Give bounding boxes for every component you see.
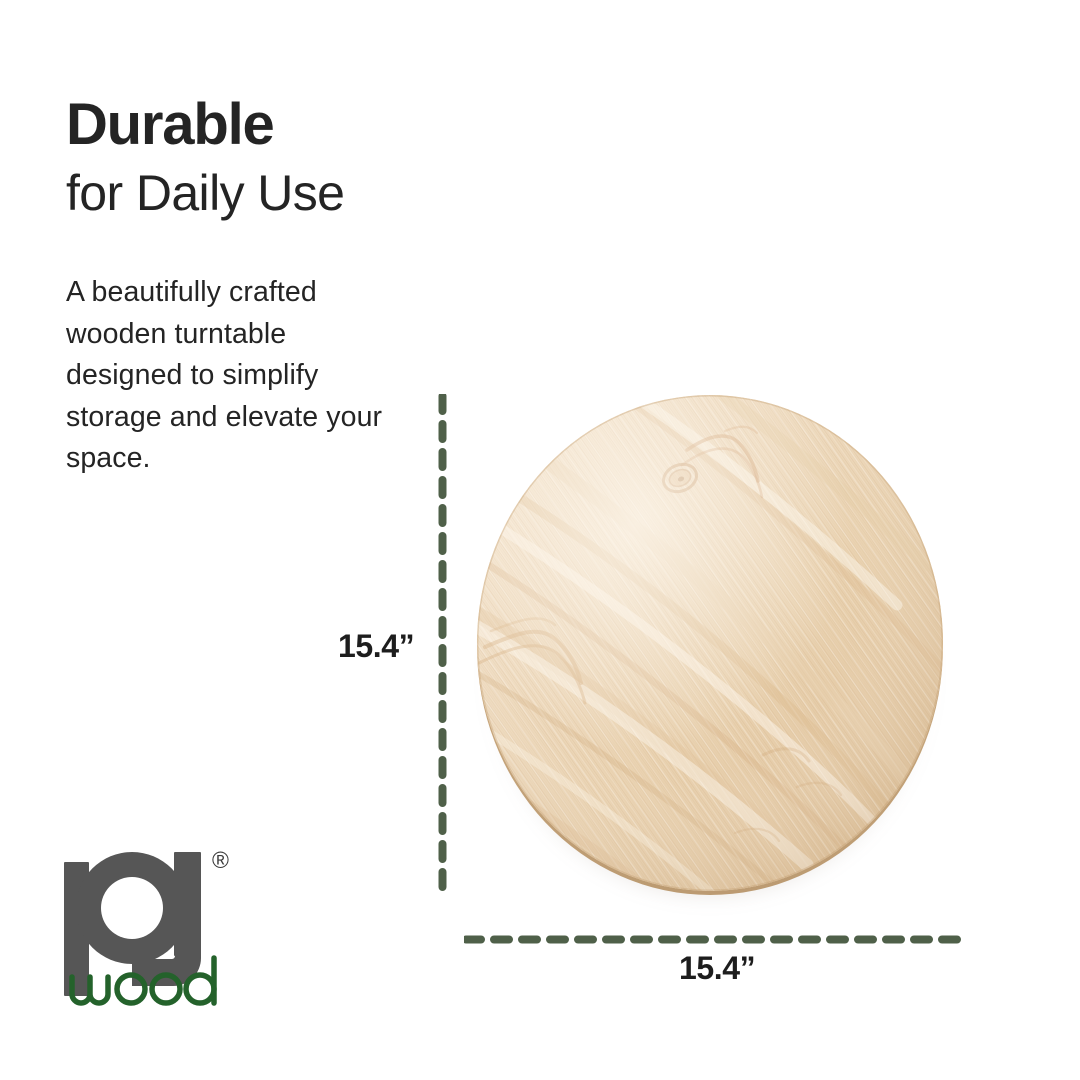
brand-logo: ® — [62, 846, 247, 1011]
width-dimension-line — [464, 931, 968, 940]
disc-wood-surface — [477, 395, 943, 891]
product-description: A beautifully crafted wooden turntable d… — [66, 272, 396, 480]
height-dimension-line — [438, 394, 447, 898]
page-subtitle: for Daily Use — [66, 165, 344, 221]
product-infographic-page: Durable for Daily Use A beautifully craf… — [0, 0, 1080, 1080]
height-dimension-label: 15.4” — [338, 628, 414, 665]
width-dimension-label: 15.4” — [679, 950, 755, 987]
registered-trademark-icon: ® — [212, 849, 229, 872]
product-image — [474, 392, 946, 900]
page-title: Durable — [66, 94, 274, 156]
